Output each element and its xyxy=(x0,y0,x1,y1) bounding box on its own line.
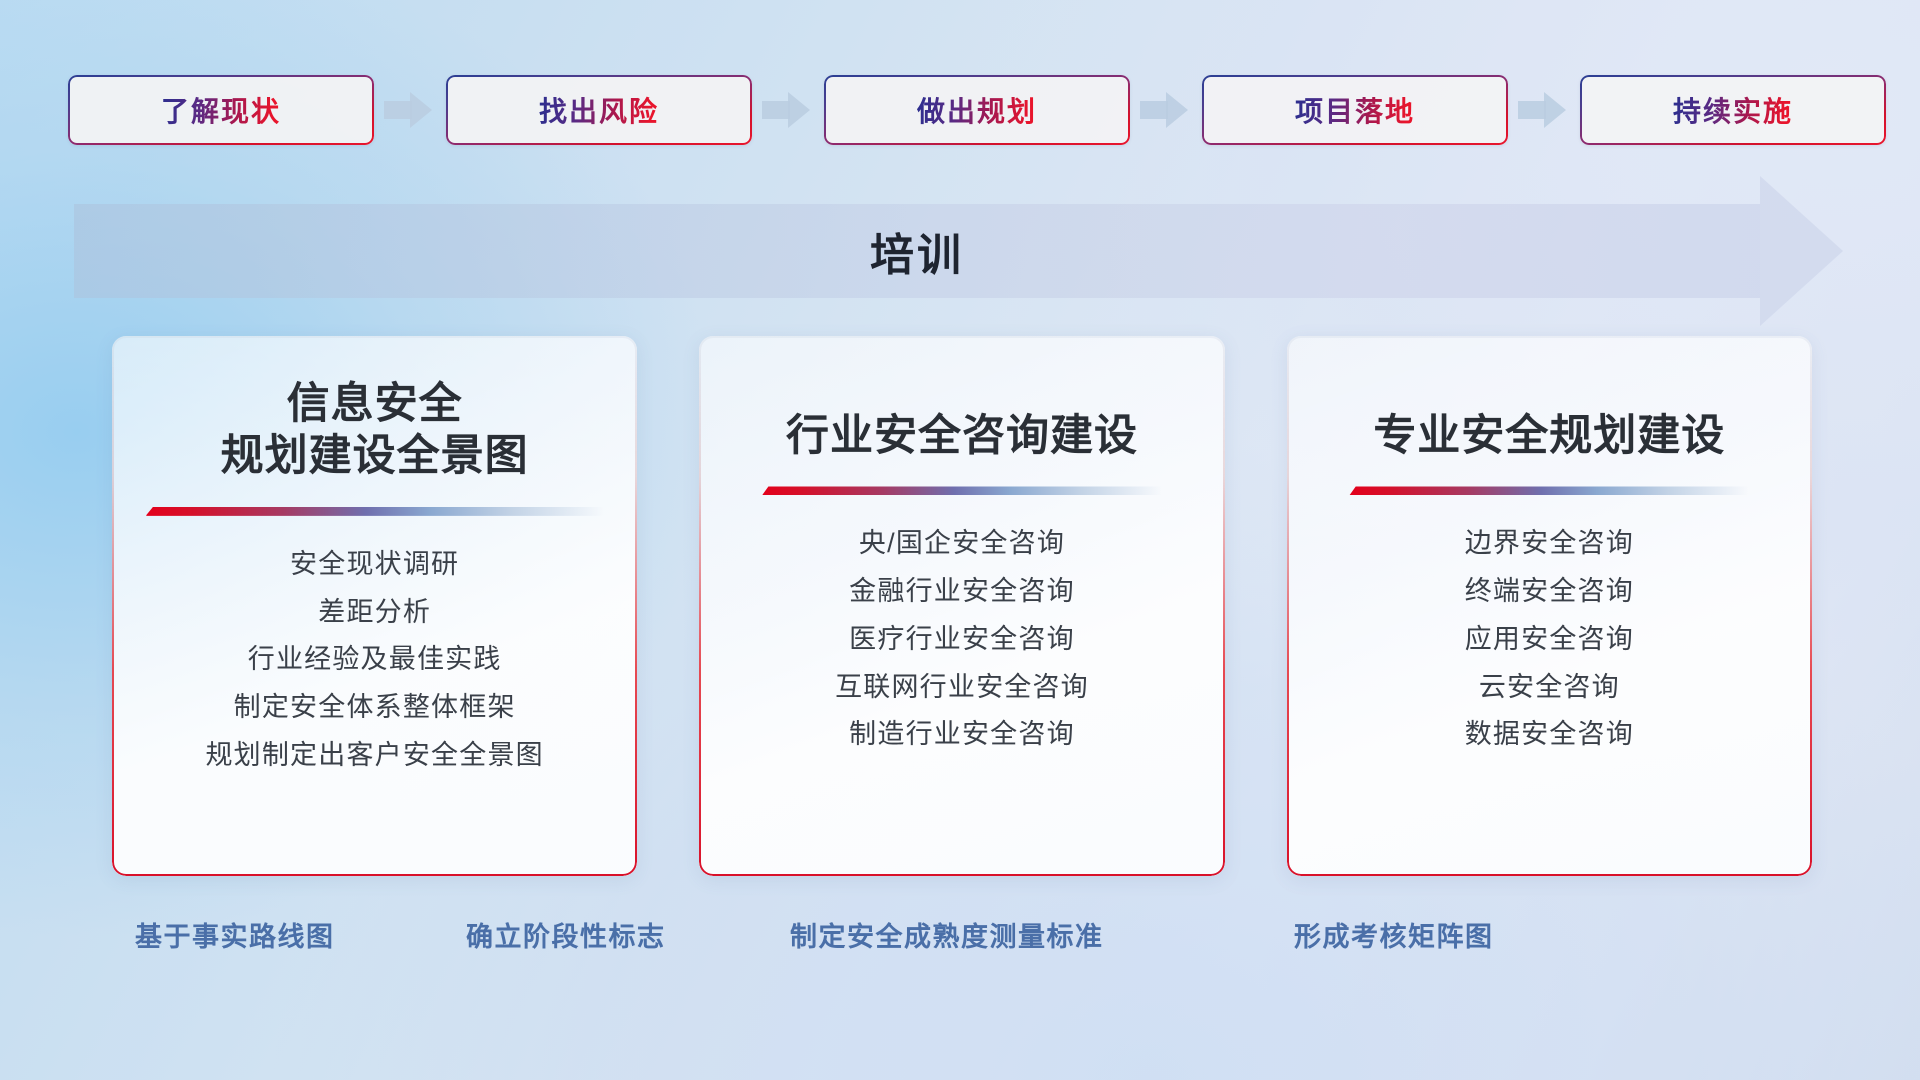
step-label-5: 持续实施 xyxy=(1673,90,1793,130)
list-item: 医疗行业安全咨询 xyxy=(849,625,1075,655)
step-box-4[interactable]: 项目落地 xyxy=(1202,75,1508,145)
list-item: 应用安全咨询 xyxy=(1465,625,1634,655)
caption-3: 制定安全成熟度测量标准 xyxy=(790,915,1104,954)
list-item: 边界安全咨询 xyxy=(1465,529,1634,559)
caption-1: 基于事实路线图 xyxy=(135,915,335,954)
list-item: 差距分析 xyxy=(318,598,431,628)
list-item: 央/国企安全咨询 xyxy=(859,529,1065,559)
right-arrow-icon xyxy=(379,92,441,128)
card-list-2: 央/国企安全咨询 金融行业安全咨询 医疗行业安全咨询 互联网行业安全咨询 制造行… xyxy=(835,529,1089,749)
card-3[interactable]: 专业安全规划建设 边界安全咨询 终端安全咨询 应用安全咨询 云安全咨询 数据安全… xyxy=(1287,336,1812,876)
card-list-1: 安全现状调研 差距分析 行业经验及最佳实践 制定安全体系整体框架 规划制定出客户… xyxy=(205,550,543,770)
step-label-3: 做出规划 xyxy=(917,90,1037,130)
right-arrow-icon xyxy=(1135,92,1197,128)
list-item: 安全现状调研 xyxy=(290,550,459,580)
card-1[interactable]: 信息安全 规划建设全景图 安全现状调研 差距分析 行业经验及最佳实践 制定安全体… xyxy=(112,336,637,876)
card-row: 信息安全 规划建设全景图 安全现状调研 差距分析 行业经验及最佳实践 制定安全体… xyxy=(112,336,1812,876)
card-title-1: 信息安全 规划建设全景图 xyxy=(221,378,529,483)
card-list-3: 边界安全咨询 终端安全咨询 应用安全咨询 云安全咨询 数据安全咨询 xyxy=(1465,529,1634,749)
card-accent-bar-2 xyxy=(762,486,1162,495)
training-banner: 培训 xyxy=(74,204,1843,298)
card-accent-bar-1 xyxy=(146,507,604,516)
card-accent-bar-3 xyxy=(1349,486,1749,495)
step-label-2: 找出风险 xyxy=(539,90,659,130)
list-item: 制造行业安全咨询 xyxy=(849,720,1075,750)
list-item: 云安全咨询 xyxy=(1479,673,1620,703)
list-item: 互联网行业安全咨询 xyxy=(835,673,1089,703)
caption-2: 确立阶段性标志 xyxy=(466,915,666,954)
banner-arrow-tip-icon xyxy=(1760,176,1843,326)
step-box-3[interactable]: 做出规划 xyxy=(824,75,1130,145)
card-2[interactable]: 行业安全咨询建设 央/国企安全咨询 金融行业安全咨询 医疗行业安全咨询 互联网行… xyxy=(699,336,1224,876)
step-label-1: 了解现状 xyxy=(161,90,281,130)
step-label-4: 项目落地 xyxy=(1295,90,1415,130)
caption-row: 基于事实路线图 确立阶段性标志 制定安全成熟度测量标准 形成考核矩阵图 xyxy=(0,915,1920,965)
step-box-2[interactable]: 找出风险 xyxy=(446,75,752,145)
card-title-2: 行业安全咨询建设 xyxy=(786,410,1138,462)
banner-title: 培训 xyxy=(74,204,1760,298)
list-item: 制定安全体系整体框架 xyxy=(234,693,516,723)
list-item: 数据安全咨询 xyxy=(1465,720,1634,750)
list-item: 终端安全咨询 xyxy=(1465,577,1634,607)
caption-4: 形成考核矩阵图 xyxy=(1294,915,1494,954)
step-box-5[interactable]: 持续实施 xyxy=(1580,75,1886,145)
step-box-1[interactable]: 了解现状 xyxy=(68,75,374,145)
right-arrow-icon xyxy=(757,92,819,128)
slide-canvas: 了解现状 找出风险 做出规划 项目落地 持续实施 培训 xyxy=(0,0,1920,1080)
process-step-row: 了解现状 找出风险 做出规划 项目落地 持续实施 xyxy=(68,75,1852,145)
card-title-3: 专业安全规划建设 xyxy=(1373,410,1725,462)
right-arrow-icon xyxy=(1513,92,1575,128)
list-item: 规划制定出客户安全全景图 xyxy=(205,741,543,771)
list-item: 金融行业安全咨询 xyxy=(849,577,1075,607)
list-item: 行业经验及最佳实践 xyxy=(248,645,502,675)
